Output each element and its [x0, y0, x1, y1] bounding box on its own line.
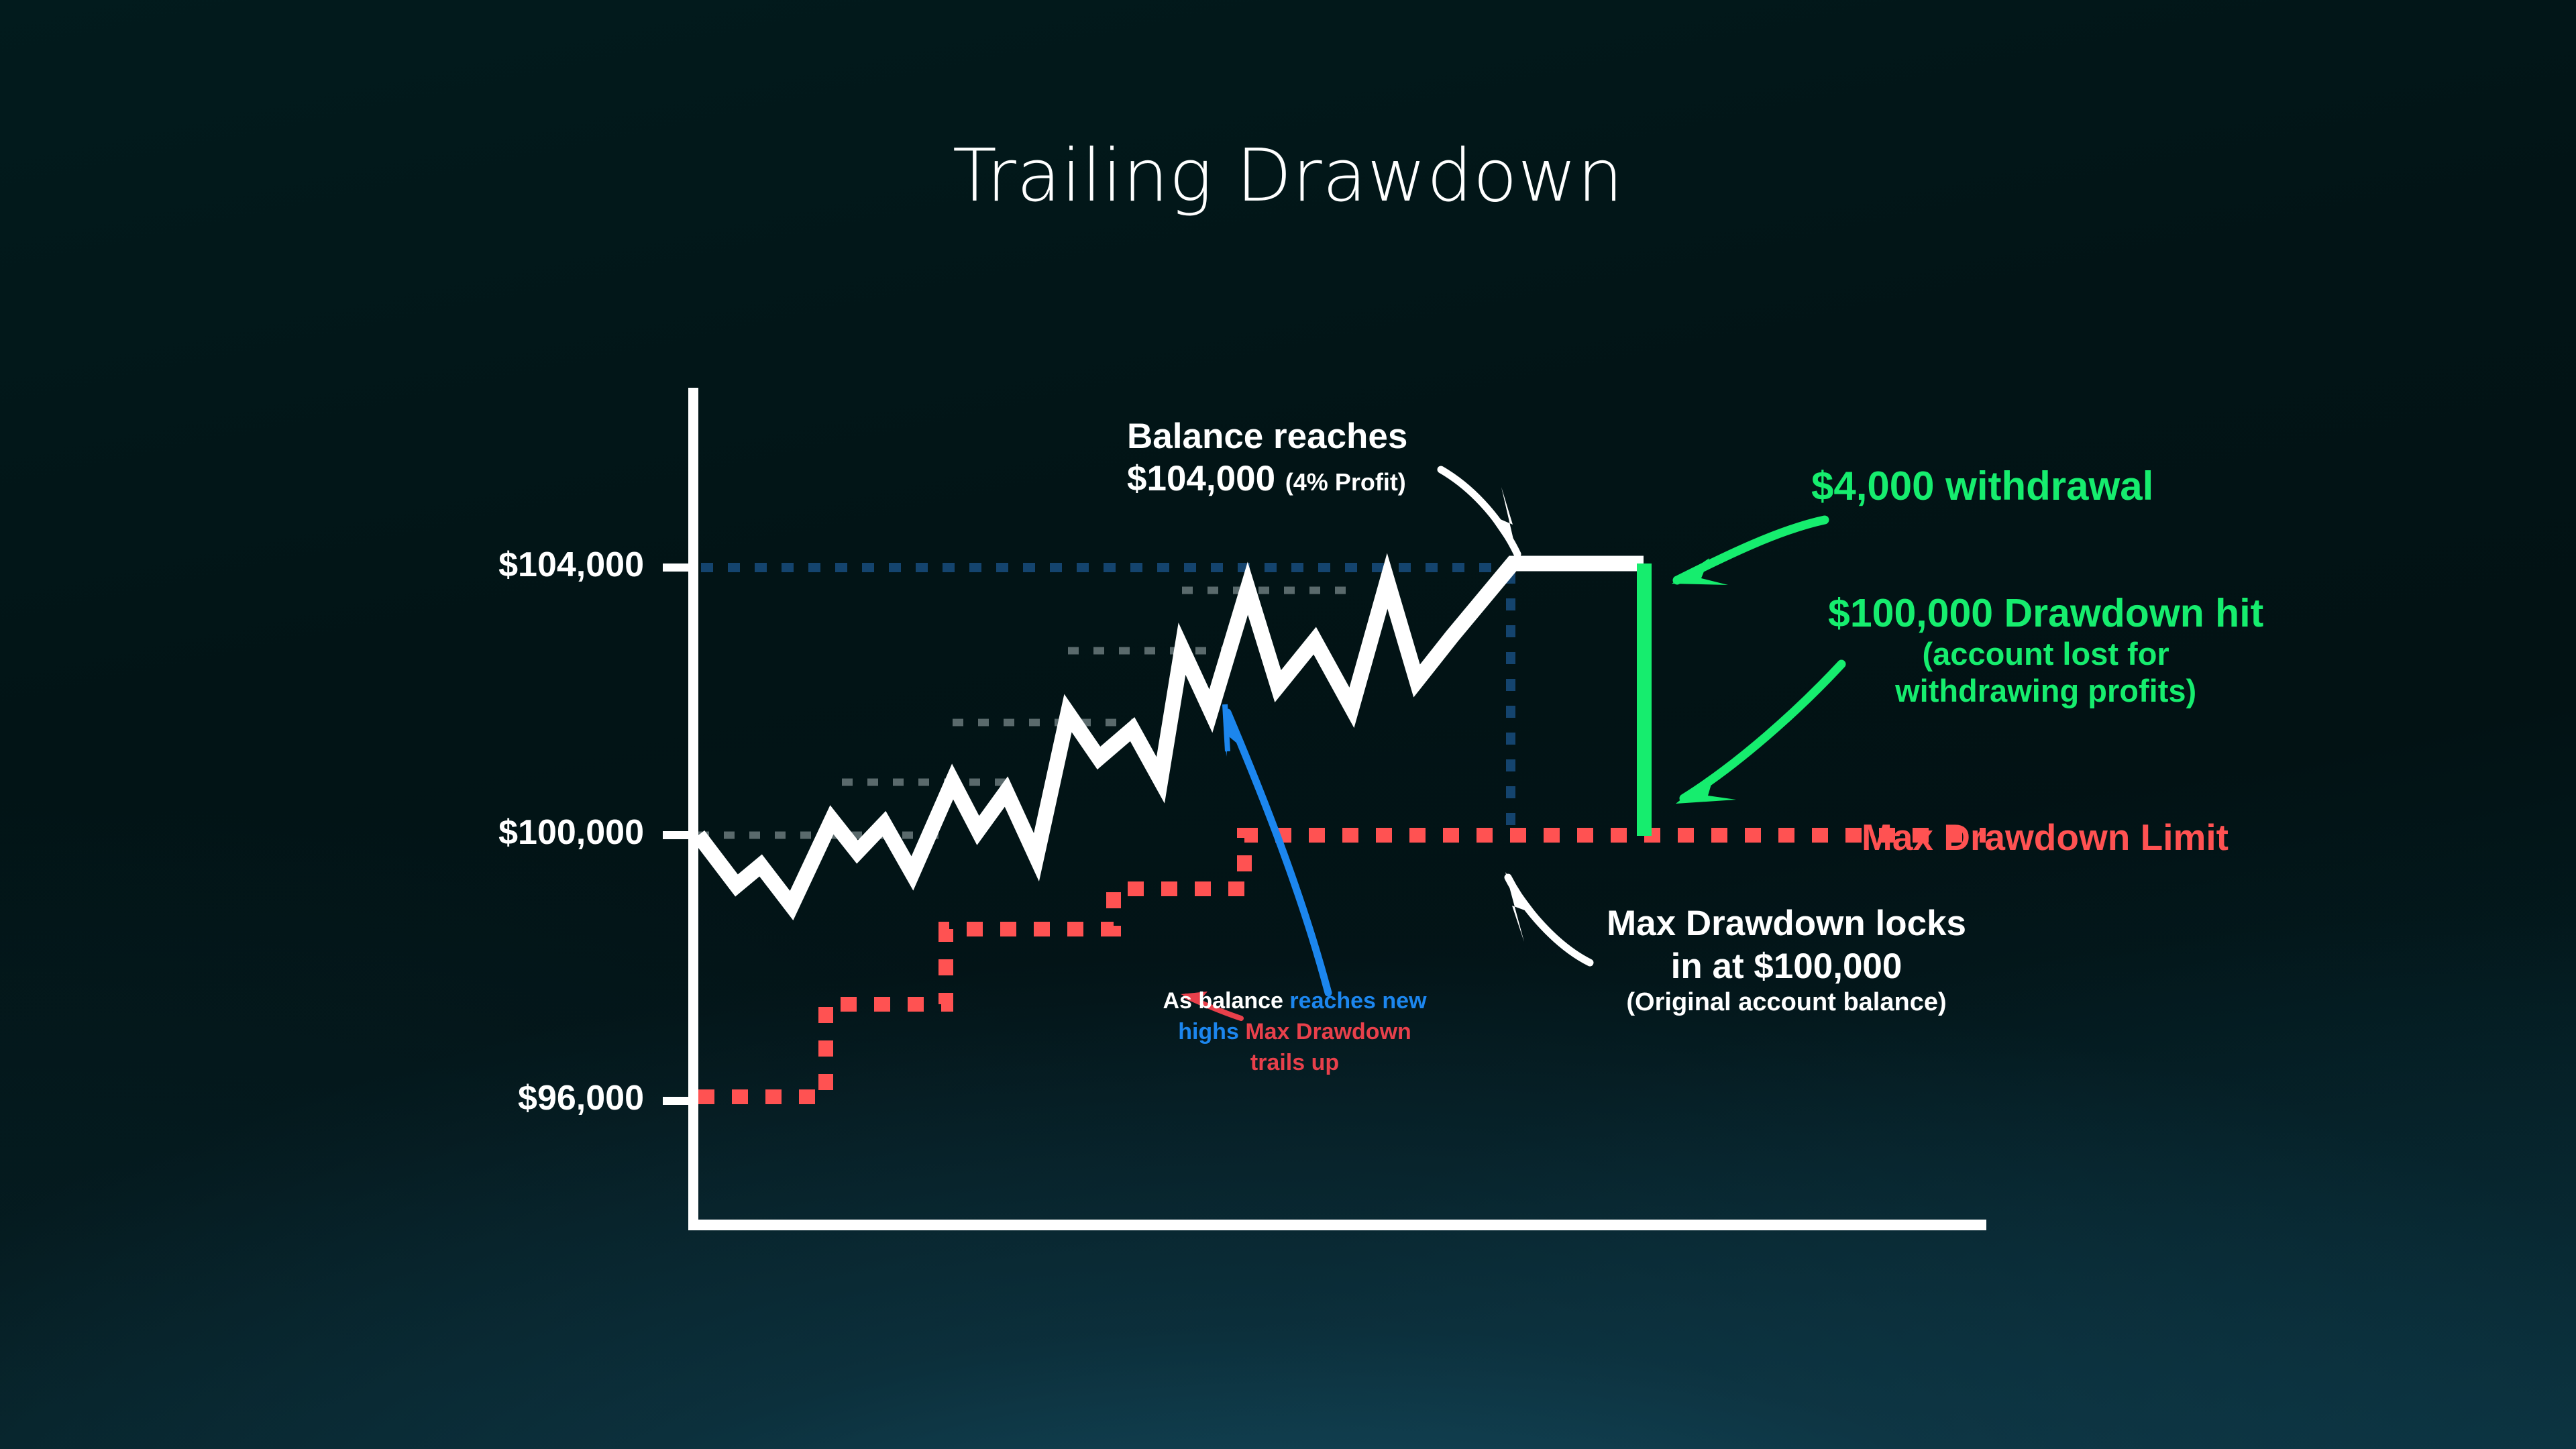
annotation-balance-reaches: Balance reaches $104,000 (4% Profit)	[1127, 416, 1407, 500]
drawdown-hit-line3: withdrawing profits)	[1828, 673, 2263, 710]
y-tick-100000: $100,000	[349, 812, 644, 853]
chart-axes	[663, 388, 1986, 1230]
annotation-trails-up: As balance reaches new highs Max Drawdow…	[1154, 986, 1436, 1079]
balance-reaches-line1: Balance reaches	[1127, 416, 1407, 458]
balance-reaches-line2: $104,000	[1127, 459, 1275, 498]
locks-in-note: (Original account balance)	[1607, 987, 1966, 1018]
y-tick-104000: $104,000	[349, 545, 644, 585]
drawdown-hit-arrow	[1676, 664, 1841, 804]
balance-line	[698, 563, 1644, 906]
new-high-arrow	[1225, 704, 1328, 993]
locks-in-line2: in at $100,000	[1607, 945, 1966, 988]
locks-in-line1: Max Drawdown locks	[1607, 902, 1966, 945]
annotation-max-drawdown-limit: Max Drawdown Limit	[1862, 816, 2229, 859]
drawdown-hit-line2: (account lost for	[1828, 636, 2263, 673]
annotation-withdrawal: $4,000 withdrawal	[1811, 463, 2153, 509]
trails-up-seg1: As balance	[1163, 988, 1289, 1014]
balance-reaches-arrow	[1441, 470, 1517, 557]
trails-up-seg3: Max Drawdown trails up	[1245, 1019, 1411, 1075]
drawdown-hit-line1: $100,000 Drawdown hit	[1828, 590, 2263, 636]
withdrawal-drop-bar	[1637, 563, 1652, 836]
trailing-drawdown-chart	[0, 0, 2576, 1449]
annotation-drawdown-hit: $100,000 Drawdown hit (account lost for …	[1828, 590, 2263, 709]
balance-reaches-note: (4% Profit)	[1285, 468, 1406, 496]
locks-in-arrow	[1505, 872, 1590, 963]
infographic-canvas: Trailing Drawdown	[0, 0, 2576, 1449]
annotation-locks-in: Max Drawdown locks in at $100,000 (Origi…	[1607, 902, 1966, 1018]
y-tick-96000: $96,000	[349, 1078, 644, 1118]
withdrawal-arrow	[1672, 520, 1825, 585]
balance-reaches-line2-wrap: $104,000 (4% Profit)	[1127, 458, 1407, 500]
